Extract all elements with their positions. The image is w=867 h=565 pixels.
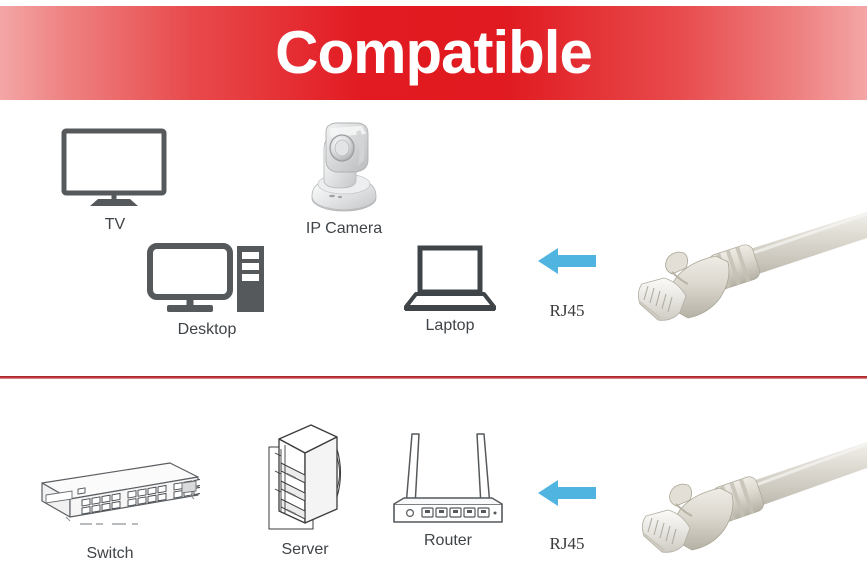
ip-camera-icon [296,118,392,214]
device-ip-camera: IP Camera [296,118,392,238]
compatibility-diagram: Compatible TV [0,0,867,565]
connector-label: RJ45 [550,534,585,554]
device-label: Switch [86,545,133,563]
device-switch: Switch [20,455,200,563]
section-divider [0,376,867,379]
page-title: Compatible [275,23,592,83]
device-tv: TV [60,128,170,234]
device-label: Laptop [426,317,475,335]
device-desktop: Desktop [147,243,267,339]
arrow-left-icon [536,476,598,510]
rj45-cable-bottom [624,440,867,565]
rj45-cable-top [624,212,867,332]
wifi-router-icon [388,428,508,528]
header-banner: Compatible [0,6,867,100]
laptop-icon [404,245,496,311]
arrow-left-icon [536,244,598,278]
device-label: Desktop [178,321,237,339]
connector-callout-top: RJ45 [536,244,598,321]
tv-icon [60,128,170,210]
desktop-icon [147,243,267,315]
connector-callout-bottom: RJ45 [536,476,598,554]
device-server: Server [265,423,345,559]
device-laptop: Laptop [404,245,496,335]
network-switch-icon [20,455,200,535]
connector-label: RJ45 [550,301,585,321]
device-label: Server [281,541,328,559]
device-label: Router [424,532,472,550]
device-label: IP Camera [306,220,382,238]
device-label: TV [105,216,125,234]
device-router: Router [388,428,508,550]
server-rack-icon [265,423,345,533]
